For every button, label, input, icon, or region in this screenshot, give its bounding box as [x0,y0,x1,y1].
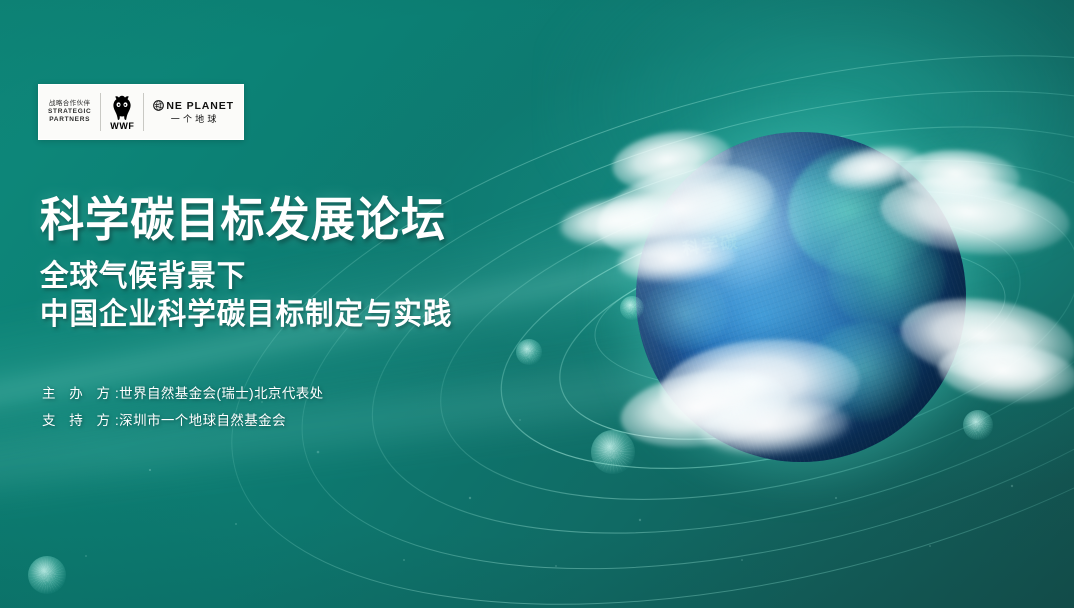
strategic-partners-en-line1: STRATEGIC [48,108,91,116]
strategic-partners-en-line2: PARTNERS [48,116,91,124]
poster-canvas: 科学碳 战略合作伙伴 STRATEGIC PARTNERS [0,0,1074,608]
partner-logo-bar: 战略合作伙伴 STRATEGIC PARTNERS [38,84,244,140]
subtitle-line-1: 全球气候背景下 [40,258,452,296]
page-title: 科学碳目标发展论坛 [40,196,448,245]
wwf-logo: WWF [101,88,143,136]
headline-block: 科学碳目标发展论坛 全球气候背景下 中国企业科学碳目标制定与实践 [40,196,474,335]
credit-value: 深圳市一个地球自然基金会 [119,413,286,428]
one-planet-logo: NE PLANET 一个地球 [144,88,243,136]
one-planet-en: NE PLANET [166,100,234,112]
credit-label: 主 办 方 [42,386,115,401]
wwf-wordmark: WWF [110,122,134,131]
strategic-partners-logo: 战略合作伙伴 STRATEGIC PARTNERS [39,88,100,136]
strategic-partners-text: 战略合作伙伴 STRATEGIC PARTNERS [48,100,91,124]
globe-sphere: 科学碳 [636,132,966,462]
credit-value: 世界自然基金会(瑞士)北京代表处 [119,386,323,401]
globe-icon [153,100,164,111]
credit-label: 支 持 方 [42,413,115,428]
strategic-partners-cn: 战略合作伙伴 [48,100,91,108]
globe-shading [636,132,966,462]
credits-block: 主 办 方:世界自然基金会(瑞士)北京代表处 支 持 方:深圳市一个地球自然基金… [42,380,324,434]
one-planet-cn: 一个地球 [168,114,220,124]
credit-row-supporter: 支 持 方:深圳市一个地球自然基金会 [42,407,324,434]
earth-globe: 科学碳 [636,132,966,462]
subtitle-line-2: 中国企业科学碳目标制定与实践 [40,296,452,334]
panda-icon [108,94,136,121]
credit-row-organizer: 主 办 方:世界自然基金会(瑞士)北京代表处 [42,380,324,407]
